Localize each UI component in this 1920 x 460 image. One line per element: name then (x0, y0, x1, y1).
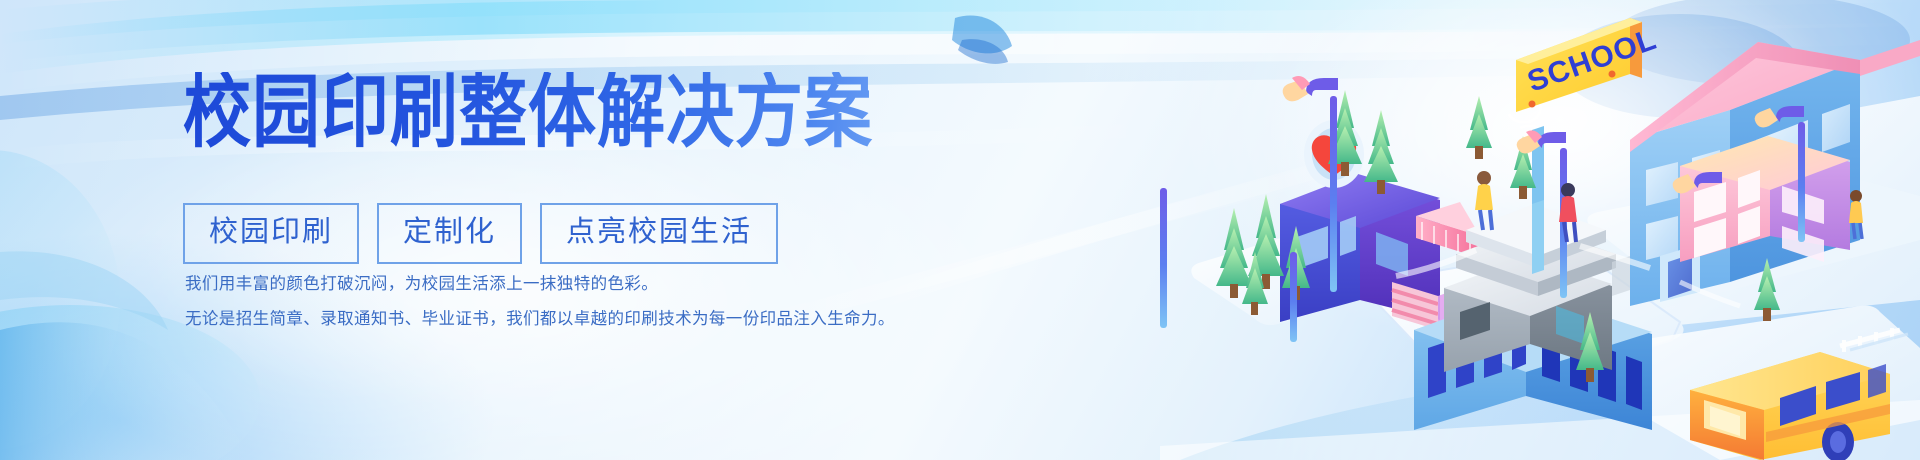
tree (1466, 96, 1492, 159)
tag-list: 校园印刷 定制化 点亮校园生活 (183, 203, 778, 264)
student (1475, 171, 1493, 230)
description-line-2: 无论是招生简章、录取通知书、毕业证书，我们都以卓越的印刷技术为每一份印品注入生命… (185, 307, 895, 332)
school-sign: SCHOOL (1516, 18, 1661, 112)
tag-campus-printing[interactable]: 校园印刷 (183, 203, 359, 264)
description-block: 我们用丰富的颜色打破沉闷，为校园生活添上一抹独特的色彩。 无论是招生简章、录取通… (185, 272, 895, 342)
description-line-1: 我们用丰富的颜色打破沉闷，为校园生活添上一抹独特的色彩。 (185, 272, 895, 297)
street-lamp (1290, 252, 1297, 342)
banner-copy: 校园印刷整体解决方案 校园印刷 定制化 点亮校园生活 我们用丰富的颜色打破沉闷，… (183, 72, 943, 156)
tag-label: 校园印刷 (209, 216, 333, 248)
tag-customization[interactable]: 定制化 (377, 203, 522, 264)
tree (1364, 110, 1398, 194)
tag-light-up-campus-life[interactable]: 点亮校园生活 (540, 203, 778, 264)
page-title: 校园印刷整体解决方案 (183, 72, 943, 171)
tag-label: 点亮校园生活 (566, 216, 752, 248)
tag-label: 定制化 (403, 216, 496, 248)
isometric-campus-illustration: SCHOOL (1160, 0, 1920, 460)
campus-printing-banner: 校园印刷整体解决方案 校园印刷 定制化 点亮校园生活 我们用丰富的颜色打破沉闷，… (0, 0, 1920, 460)
